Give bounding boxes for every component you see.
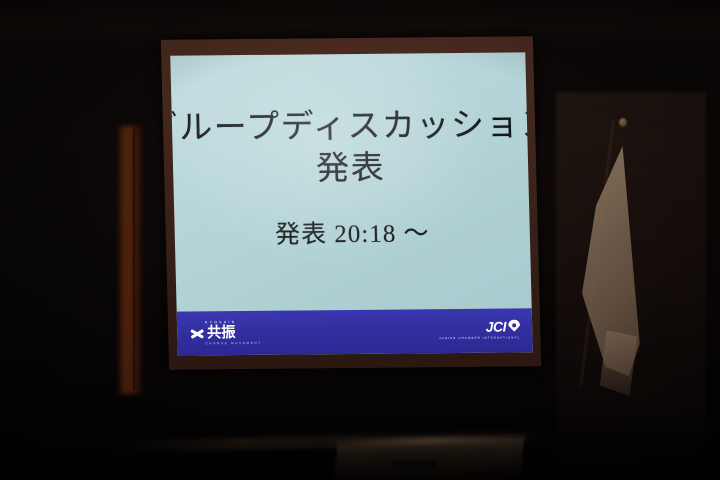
jci-logo: JCI JUNIOR CHAMBER INTERNATIONAL (438, 320, 520, 340)
podium-object (392, 459, 436, 469)
jci-logo-main: JCI (485, 320, 520, 334)
slide-footer-band: KYOSHIN 共振 CHANGE MOVEMENT JCI (177, 308, 533, 355)
lit-wall-panel (117, 126, 143, 394)
kyoshin-logo: KYOSHIN 共振 CHANGE MOVEMENT (189, 320, 262, 346)
jci-wordmark: JCI (485, 320, 506, 334)
kyoshin-logo-main: 共振 (189, 326, 236, 341)
jci-pin-icon (508, 320, 520, 334)
projection-screen: グループディスカッション 発表 発表 20:18 〜 KYOSHIN 共振 CH… (161, 36, 541, 369)
kyoshin-logo-kanji: 共振 (207, 326, 236, 341)
slide-subtitle: 発表 20:18 〜 (275, 213, 430, 250)
wall-panel-seam (133, 128, 135, 390)
photo-scene: グループディスカッション 発表 発表 20:18 〜 KYOSHIN 共振 CH… (0, 0, 720, 480)
kyoshin-x-mark-icon (189, 326, 204, 341)
presentation-slide: グループディスカッション 発表 発表 20:18 〜 KYOSHIN 共振 CH… (170, 52, 533, 355)
slide-title-line-2: 発表 (316, 149, 386, 191)
jci-tagline: JUNIOR CHAMBER INTERNATIONAL (439, 336, 521, 340)
flag-finial (619, 118, 627, 127)
kyoshin-logo-bottom-text: CHANGE MOVEMENT (205, 342, 261, 346)
slide-title-line-1: グループディスカッション (170, 106, 533, 149)
slide-body: グループディスカッション 発表 発表 20:18 〜 (170, 52, 532, 311)
